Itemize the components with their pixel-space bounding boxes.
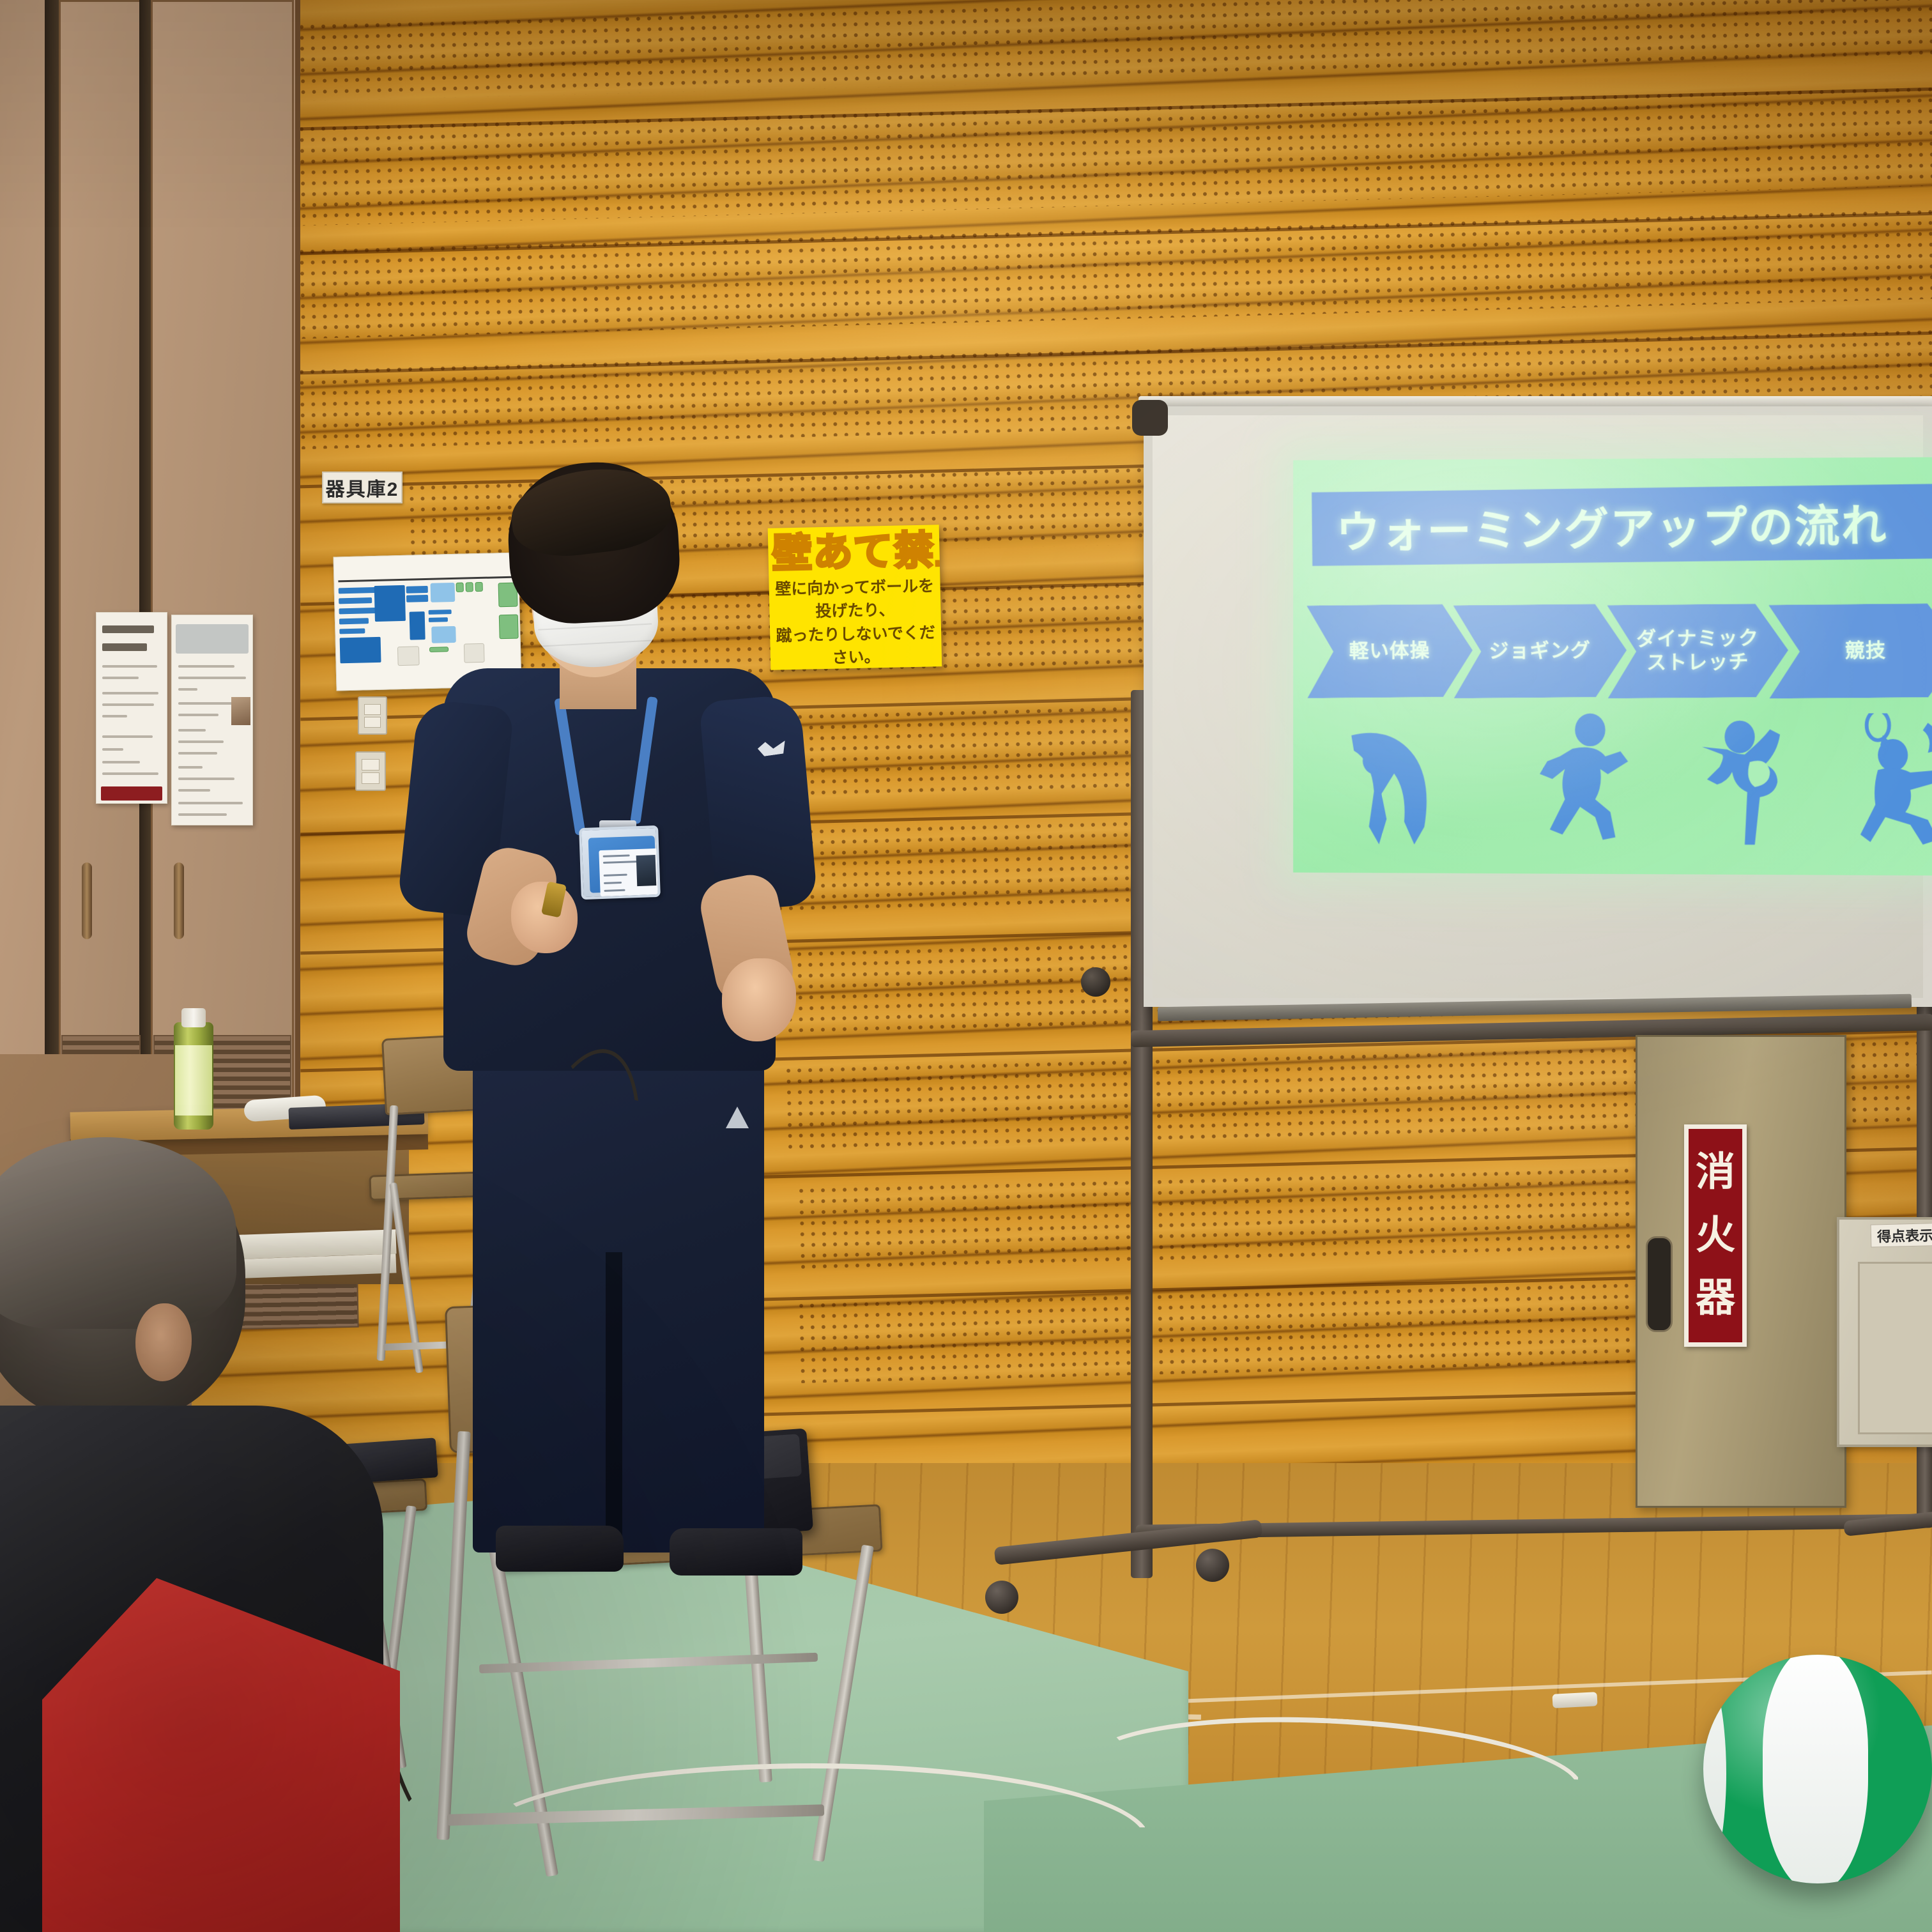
projected-slide: ウォーミングアップの流れ 軽い体操 ジョギング ダイナミックストレッチ 競技 xyxy=(1293,457,1932,876)
fire-sign-char-3: 器 xyxy=(1696,1280,1735,1317)
diagram-gray-box xyxy=(464,643,485,663)
warning-sign-body-line1: 壁に向かってボールを投げたり、 xyxy=(772,574,937,624)
poster-text-line xyxy=(102,772,158,775)
slide-step-2-label: ジョギング xyxy=(1489,639,1591,663)
poster-text-line xyxy=(102,692,158,694)
fire-extinguisher-sign: 消 火 器 xyxy=(1684,1124,1747,1347)
fire-sign-char-2: 火 xyxy=(1696,1217,1735,1255)
slide-step-4: 競技 xyxy=(1768,603,1932,699)
switch-rocker[interactable] xyxy=(362,759,379,770)
badminton-player-figure-icon xyxy=(1860,713,1932,852)
room-name-text: 器具庫2 xyxy=(326,473,399,502)
cabinet-handle[interactable] xyxy=(1646,1236,1673,1332)
diagram-bar xyxy=(339,597,372,604)
presenter-leg-gap xyxy=(606,1252,622,1552)
sliding-door-right[interactable] xyxy=(151,0,294,1124)
poster-text-line xyxy=(102,761,140,763)
badge-portrait-photo xyxy=(636,855,657,886)
diagram-block xyxy=(374,585,406,622)
light-switch-plate[interactable] xyxy=(358,696,387,735)
poster-text-line xyxy=(178,665,234,668)
switch-rocker[interactable] xyxy=(364,717,381,728)
diagram-bar xyxy=(339,618,369,624)
badge-text-line xyxy=(604,882,622,884)
presenter-shoe-right xyxy=(670,1528,802,1575)
ball-white-panel xyxy=(1763,1655,1868,1883)
slide-step-4-label: 競技 xyxy=(1845,639,1887,663)
photo-id-badge xyxy=(579,825,661,900)
slide-step-2: ジョギング xyxy=(1453,604,1627,698)
slide-step-1: 軽い体操 xyxy=(1307,604,1473,698)
diagram-bar xyxy=(339,628,365,634)
diagram-green-box xyxy=(475,582,483,592)
slide-step-3: ダイナミックストレッチ xyxy=(1607,603,1788,698)
poster-text-line xyxy=(178,714,218,716)
poster-photo-thumbnail xyxy=(231,697,250,725)
presenter-hand-left xyxy=(511,882,578,953)
slide-step-flow: 軽い体操 ジョギング ダイナミックストレッチ 競技 xyxy=(1307,604,1932,700)
diagram-block xyxy=(340,637,381,664)
whiteboard-height-knob[interactable] xyxy=(1081,967,1110,997)
diagram-gray-box xyxy=(397,646,420,666)
poster-text-line xyxy=(102,748,123,751)
room-name-plate: 器具庫2 xyxy=(322,471,402,503)
photo-scene: 器具庫2 壁あて禁止 壁に向かってボールを投げたり、 蹴ったりしないでください。… xyxy=(0,0,1932,1932)
diagram-bar xyxy=(339,608,376,614)
door-handle[interactable] xyxy=(82,862,92,939)
poster-text-line xyxy=(102,735,153,738)
diagram-block xyxy=(410,611,425,640)
notice-poster-2 xyxy=(171,615,253,825)
slide-step-1-label: 軽い体操 xyxy=(1349,639,1430,663)
switch-rocker[interactable] xyxy=(364,704,381,715)
diagram-panel xyxy=(431,626,456,643)
poster-text-line xyxy=(102,665,157,668)
poster-text-line xyxy=(178,778,234,780)
warning-sign-title: 壁あて禁止 xyxy=(772,531,936,574)
badge-text-line xyxy=(604,874,627,877)
poster-text-line xyxy=(178,740,224,743)
poster-text-line xyxy=(178,752,217,755)
door-gap xyxy=(139,0,152,1124)
badge-text-line xyxy=(604,889,625,892)
diagram-green-box xyxy=(429,647,448,652)
whiteboard-caster-right xyxy=(1196,1549,1229,1582)
diagram-green-box xyxy=(466,582,473,592)
notice-poster-1 xyxy=(96,612,167,804)
poster-text-line xyxy=(178,677,246,679)
diagram-bar xyxy=(406,595,428,602)
poster-text-line xyxy=(178,702,240,705)
bottle-cap[interactable] xyxy=(181,1008,206,1027)
diagram-bar xyxy=(429,609,452,615)
mask-pleat xyxy=(539,640,653,647)
diagram-green-box xyxy=(456,583,464,592)
slide-title-bar: ウォーミングアップの流れ xyxy=(1312,484,1932,566)
warning-sign-body-line2: 蹴ったりしないでください。 xyxy=(774,621,938,670)
badge-text-line xyxy=(603,854,630,857)
light-switch-plate[interactable] xyxy=(355,751,386,791)
poster-gray-header xyxy=(176,624,248,654)
slide-step-3-label: ダイナミックストレッチ xyxy=(1636,627,1759,675)
diagram-bar xyxy=(339,587,376,594)
scoreboard-label: 得点表示盤 xyxy=(1871,1222,1932,1247)
switch-rocker[interactable] xyxy=(362,772,379,783)
bottle-label xyxy=(175,1045,212,1115)
fire-sign-char-1: 消 xyxy=(1696,1154,1735,1192)
side-bend-stretch-figure-icon xyxy=(1349,713,1475,850)
badge-inner xyxy=(588,836,657,893)
poster-text-line xyxy=(102,715,128,717)
door-handle[interactable] xyxy=(174,862,184,939)
mask-pleat xyxy=(538,623,652,630)
poster-text-line xyxy=(178,802,243,804)
diagram-panel xyxy=(431,583,456,602)
diagram-bar xyxy=(429,617,448,622)
badge-text-line xyxy=(603,861,640,864)
diagram-bar xyxy=(406,586,428,594)
poster-text-line xyxy=(178,688,197,691)
green-white-beach-ball[interactable] xyxy=(1703,1655,1932,1883)
poster-red-bar xyxy=(101,786,163,801)
wall-warning-sign: 壁あて禁止 壁に向かってボールを投げたり、 蹴ったりしないでください。 甲陵体育… xyxy=(768,525,942,670)
running-figure-icon xyxy=(1527,713,1641,850)
poster-text-line xyxy=(102,677,139,679)
door-gap xyxy=(45,0,59,1124)
diagram-divider xyxy=(338,576,516,583)
cable-plug xyxy=(1552,1692,1597,1708)
poster-text-line xyxy=(102,703,154,706)
poster-text-line xyxy=(178,813,227,816)
whiteboard-caster-left xyxy=(985,1581,1018,1614)
presenter-shoe-left xyxy=(496,1526,624,1572)
diagram-green-box xyxy=(499,615,519,640)
poster-heading-line xyxy=(102,625,154,633)
whiteboard-corner-cap xyxy=(1132,400,1168,436)
dynamic-stretch-figure-icon xyxy=(1699,713,1815,851)
poster-heading-line xyxy=(102,643,147,651)
poster-text-line xyxy=(178,766,203,769)
poster-text-line xyxy=(178,789,210,792)
slide-title: ウォーミングアップの流れ xyxy=(1336,489,1888,561)
sliding-door-left[interactable] xyxy=(59,0,143,1124)
poster-text-line xyxy=(178,729,206,732)
scoreboard-panel-inner xyxy=(1858,1262,1932,1434)
